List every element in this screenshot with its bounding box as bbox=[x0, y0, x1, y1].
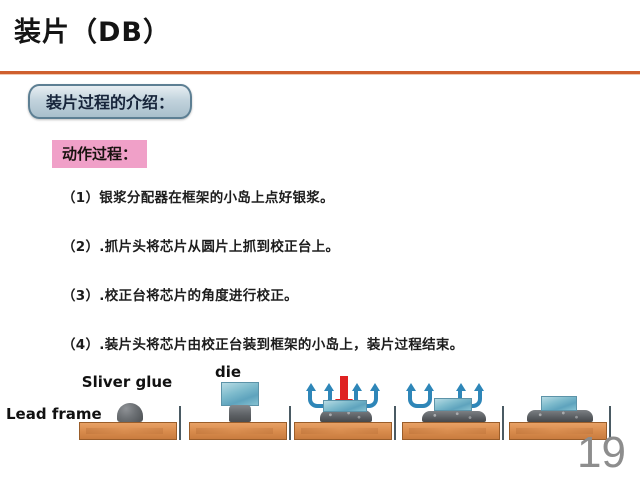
die-block-icon bbox=[434, 398, 472, 411]
panel-edge-line bbox=[394, 406, 396, 440]
lead-frame-bar bbox=[294, 422, 392, 440]
steps-list: （1）银浆分配器在框架的小岛上点好银浆。 （2）.抓片头将芯片从圆片上抓到校正台… bbox=[62, 186, 602, 382]
press-down-arrow-icon bbox=[340, 376, 348, 400]
glue-flow-arrow-icon bbox=[408, 389, 432, 408]
page-number: 19 bbox=[577, 428, 626, 478]
diagram-panel-glue-dispensed bbox=[75, 362, 185, 458]
glue-stem-icon bbox=[229, 405, 251, 422]
process-diagram: Lead frame Sliver glue die bbox=[0, 362, 640, 462]
page-title: 装片（DB） bbox=[14, 10, 171, 49]
glue-dome-icon bbox=[117, 403, 143, 422]
step-item: （4）.装片头将芯片由校正台装到框架的小岛上，装片过程结束。 bbox=[62, 333, 602, 353]
diagram-panel-die-pickup bbox=[185, 362, 295, 458]
action-heading: 动作过程： bbox=[52, 140, 147, 168]
lead-frame-label: Lead frame bbox=[6, 406, 76, 423]
panel-edge-line bbox=[502, 406, 504, 440]
diagram-panel-glue-spread bbox=[398, 362, 508, 458]
glue-pile-icon bbox=[527, 410, 593, 422]
step-item: （2）.抓片头将芯片从圆片上抓到校正台上。 bbox=[62, 235, 602, 255]
section-banner: 装片过程的介绍： bbox=[28, 84, 192, 119]
glue-pile-icon bbox=[422, 411, 486, 422]
panel-edge-line bbox=[179, 406, 181, 440]
diagram-panel-die-press-down bbox=[290, 362, 400, 458]
lead-frame-bar bbox=[189, 422, 287, 440]
title-divider bbox=[0, 71, 640, 74]
lead-frame-bar bbox=[79, 422, 177, 440]
die-block-icon bbox=[323, 400, 367, 412]
step-item: （1）银浆分配器在框架的小岛上点好银浆。 bbox=[62, 186, 602, 206]
die-block-icon bbox=[541, 396, 577, 411]
die-block-icon bbox=[221, 382, 259, 406]
lead-frame-bar bbox=[402, 422, 500, 440]
step-item: （3）.校正台将芯片的角度进行校正。 bbox=[62, 284, 602, 304]
